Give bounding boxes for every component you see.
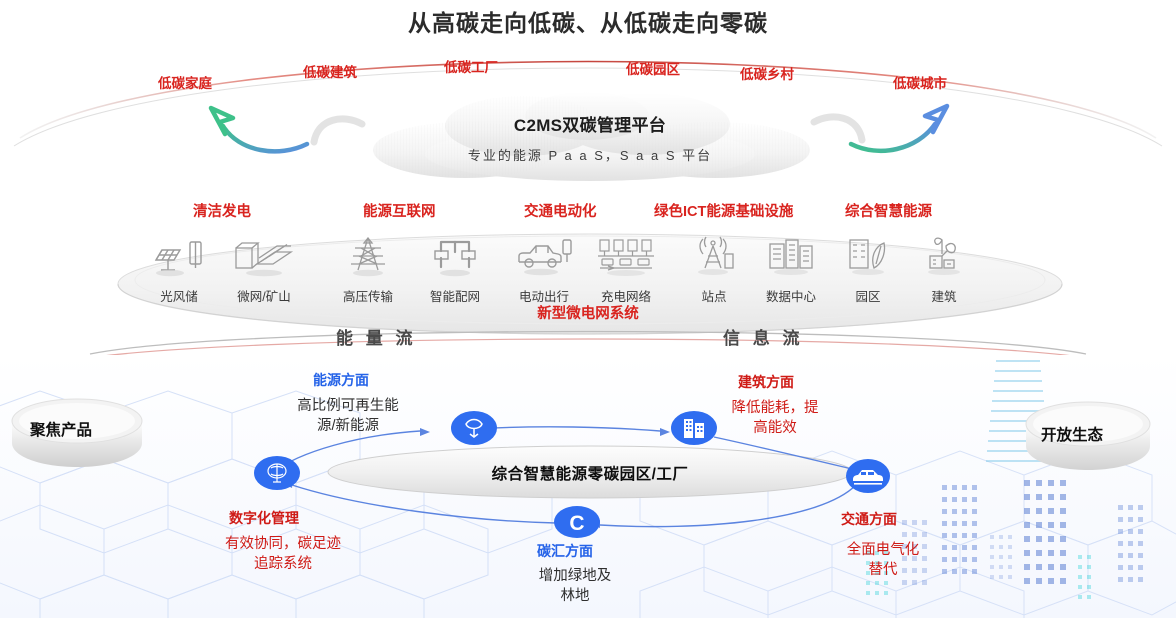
c2ms-cloud: C2MS双碳管理平台 专业的能源 P a a S，S a a S 平台 [355,88,825,183]
capability-heading-digital: 数字化管理 [229,508,299,528]
smart-distribution-icon [409,232,501,278]
platform-heading-4: 综合智慧能源 [845,200,932,221]
arc-label-4: 低碳乡村 [740,63,794,83]
carbon-c-icon[interactable]: C [553,505,601,544]
renewable-energy-icon[interactable] [450,410,498,451]
flow-arrow-right-icon [845,96,955,158]
arc-label-0: 低碳家庭 [158,72,212,92]
capability-heading-energy: 能源方面 [313,370,369,390]
vehicle-icon[interactable] [845,458,891,499]
flow-band [60,320,1116,360]
platform-heading-0: 清洁发电 [193,200,251,221]
platform-icon-0[interactable]: 光风储 [133,232,225,305]
platform-icon-1[interactable]: 微网/矿山 [218,232,310,305]
capability-heading-building: 建筑方面 [738,372,794,392]
information-flow-label: 信 息 流 [723,324,803,349]
focus-products-label: 聚焦产品 [30,418,92,440]
arc-label-1: 低碳建筑 [303,61,357,81]
platform-icon-9[interactable]: 建筑 [898,232,990,305]
platform-icon-4[interactable]: 电动出行 [498,232,590,305]
open-ecosystem-label: 开放生态 [1041,423,1103,445]
charging-network-icon [580,232,672,278]
platform-heading-3: 绿色ICT能源基础设施 [654,200,793,221]
electric-vehicle-icon [498,232,590,278]
platform-icon-5[interactable]: 充电网络 [580,232,672,305]
platform-icon-2[interactable]: 高压传输 [322,232,414,305]
center-ellipse-label: 综合智慧能源零碳园区/工厂 [325,462,855,484]
arc-label-3: 低碳园区 [626,58,680,78]
infographic-canvas: 从高碳走向低碳、从低碳走向零碳 低碳家庭 低碳建筑 低碳工厂 低碳园区 低碳乡村… [0,0,1176,618]
digital-brain-icon[interactable] [253,455,301,496]
capability-body-energy: 高比例可再生能 源/新能源 [258,396,438,436]
svg-text:C: C [569,512,584,535]
capability-body-transport: 全面电气化 替代 [818,540,948,580]
capability-heading-transport: 交通方面 [841,509,897,529]
arc-label-5: 低碳城市 [893,72,947,92]
capability-heading-carbon-sink: 碳汇方面 [537,541,593,561]
capability-body-digital: 有效协同，碳足迹 追踪系统 [188,534,378,574]
microgrid-mine-icon [218,232,310,278]
cloud-title: C2MS双碳管理平台 [355,111,825,136]
flow-arrow-left-icon [203,100,313,160]
capability-body-carbon-sink: 增加绿地及 林地 [505,566,645,606]
platform-heading-1: 能源互联网 [363,200,436,221]
platform-headings: 清洁发电 能源互联网 交通电动化 绿色ICT能源基础设施 综合智慧能源 [0,200,1176,222]
solar-wind-storage-icon [133,232,225,278]
arc-label-2: 低碳工厂 [444,56,498,76]
platform-heading-2: 交通电动化 [524,200,597,221]
capability-body-building: 降低能耗，提 高能效 [700,398,850,438]
energy-flow-label: 能 量 流 [336,324,416,349]
high-voltage-transmission-icon [322,232,414,278]
platform-icon-3[interactable]: 智能配网 [409,232,501,305]
green-building-icon [898,232,990,278]
cloud-subtitle: 专业的能源 P a a S，S a a S 平台 [355,145,825,164]
